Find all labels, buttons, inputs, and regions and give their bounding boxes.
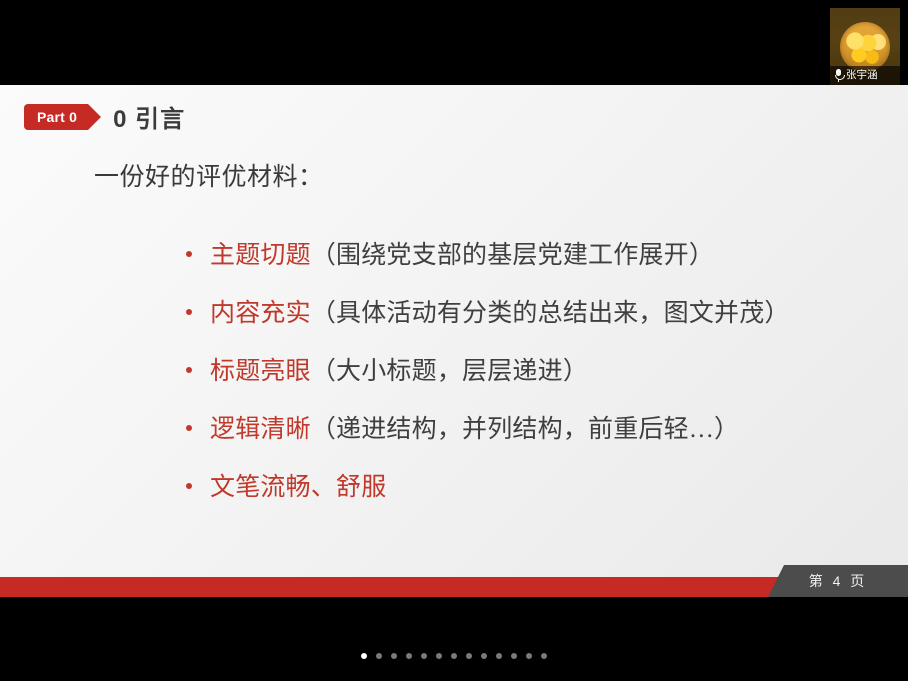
bottom-black-bar <box>0 597 908 681</box>
page-number-label: 第 4 页 <box>809 571 868 591</box>
bullet-text: 标题亮眼（大小标题，层层递进） <box>210 349 588 395</box>
bullet-dot-icon <box>186 367 192 373</box>
pagination-dot[interactable] <box>376 653 382 659</box>
list-item: 标题亮眼（大小标题，层层递进） <box>186 349 816 395</box>
pagination-dot[interactable] <box>466 653 472 659</box>
list-item: 文笔流畅、舒服 <box>186 465 816 511</box>
bullet-list: 主题切题（围绕党支部的基层党建工作展开） 内容充实（具体活动有分类的总结出来，图… <box>186 233 816 523</box>
bullet-note: （大小标题，层层递进） <box>311 358 588 385</box>
pagination-dot[interactable] <box>406 653 412 659</box>
part-badge-wrap: Part 0 <box>24 104 101 130</box>
bullet-dot-icon <box>186 251 192 257</box>
bullet-keyword: 主题切题 <box>210 242 311 269</box>
pagination-dot[interactable] <box>391 653 397 659</box>
pagination-dots[interactable] <box>0 653 908 659</box>
slide-lead-text: 一份好的评优材料： <box>94 157 324 193</box>
bullet-dot-icon <box>186 309 192 315</box>
pagination-dot[interactable] <box>481 653 487 659</box>
bullet-text: 主题切题（围绕党支部的基层党建工作展开） <box>210 233 714 279</box>
avatar <box>840 22 890 72</box>
bullet-keyword: 内容充实 <box>210 300 311 327</box>
webcam-tile[interactable]: 张宇涵 <box>830 8 900 85</box>
bullet-keyword: 标题亮眼 <box>210 358 311 385</box>
page-title: 0 引言 <box>113 99 185 134</box>
microphone-icon[interactable] <box>834 69 843 82</box>
pagination-dot[interactable] <box>361 653 367 659</box>
part-badge-arrow-icon <box>88 104 101 130</box>
pagination-dot[interactable] <box>526 653 532 659</box>
top-black-bar: 张宇涵 <box>0 0 908 85</box>
pagination-dot[interactable] <box>541 653 547 659</box>
bullet-note: （递进结构，并列结构，前重后轻…） <box>311 416 739 443</box>
pagination-dot[interactable] <box>451 653 457 659</box>
pagination-dot[interactable] <box>511 653 517 659</box>
page-number-tab: 第 4 页 <box>768 565 908 597</box>
list-item: 主题切题（围绕党支部的基层党建工作展开） <box>186 233 816 279</box>
bullet-keyword: 逻辑清晰 <box>210 416 311 443</box>
participant-name: 张宇涵 <box>846 66 878 85</box>
list-item: 内容充实（具体活动有分类的总结出来，图文并茂） <box>186 291 816 337</box>
bullet-text: 文笔流畅、舒服 <box>210 465 386 511</box>
slide-header: Part 0 0 引言 <box>24 99 185 134</box>
pagination-dot[interactable] <box>436 653 442 659</box>
bullet-dot-icon <box>186 483 192 489</box>
bullet-text: 内容充实（具体活动有分类的总结出来，图文并茂） <box>210 291 790 337</box>
bullet-text: 逻辑清晰（递进结构，并列结构，前重后轻…） <box>210 407 739 453</box>
bullet-dot-icon <box>186 425 192 431</box>
bullet-note: （具体活动有分类的总结出来，图文并茂） <box>311 300 790 327</box>
pagination-dot[interactable] <box>496 653 502 659</box>
pagination-dot[interactable] <box>421 653 427 659</box>
bullet-note: （围绕党支部的基层党建工作展开） <box>311 242 714 269</box>
bullet-keyword: 文笔流畅、舒服 <box>210 474 386 501</box>
list-item: 逻辑清晰（递进结构，并列结构，前重后轻…） <box>186 407 816 453</box>
slide-canvas[interactable]: Part 0 0 引言 一份好的评优材料： 主题切题（围绕党支部的基层党建工作展… <box>0 85 908 597</box>
part-badge: Part 0 <box>24 104 88 130</box>
presentation-viewer: 张宇涵 Part 0 0 引言 一份好的评优材料： 主题切题（围绕党支部的基层党… <box>0 0 908 681</box>
webcam-name-row: 张宇涵 <box>830 66 900 85</box>
